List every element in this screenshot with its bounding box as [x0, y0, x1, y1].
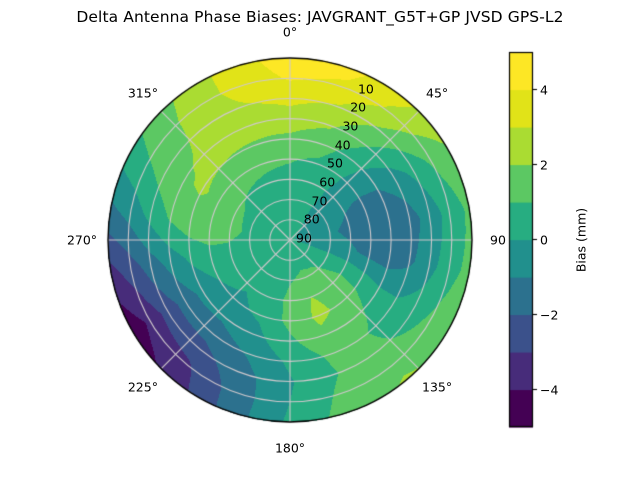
azimuth-tick-45: 45°: [426, 85, 448, 100]
radial-tick-70: 70: [312, 193, 328, 208]
colorbar-axis-label: Bias (mm): [574, 207, 589, 271]
azimuth-tick-135: 135°: [422, 380, 452, 395]
radial-tick-90: 90: [296, 231, 312, 246]
figure-root: Delta Antenna Phase Biases: JAVGRANT_G5T…: [0, 0, 640, 480]
radial-tick-80: 80: [304, 212, 320, 227]
colorbar-tick--2: −2: [540, 307, 558, 322]
colorbar-tick-4: 4: [540, 82, 548, 97]
colorbar-tick--4: −4: [540, 382, 558, 397]
azimuth-tick-90: 90: [490, 233, 506, 248]
radial-tick-60: 60: [319, 174, 335, 189]
azimuth-tick-225: 225°: [128, 380, 158, 395]
azimuth-tick-180: 180°: [275, 441, 305, 456]
radial-tick-10: 10: [358, 81, 374, 96]
azimuth-tick-0: 0°: [283, 25, 297, 40]
azimuth-tick-270: 270°: [67, 233, 97, 248]
radial-tick-40: 40: [335, 137, 351, 152]
radial-tick-30: 30: [342, 118, 358, 133]
colorbar-tick-0: 0: [540, 232, 548, 247]
radial-tick-50: 50: [327, 156, 343, 171]
radial-tick-20: 20: [350, 100, 366, 115]
colorbar-tick-2: 2: [540, 157, 548, 172]
azimuth-tick-315: 315°: [128, 85, 158, 100]
